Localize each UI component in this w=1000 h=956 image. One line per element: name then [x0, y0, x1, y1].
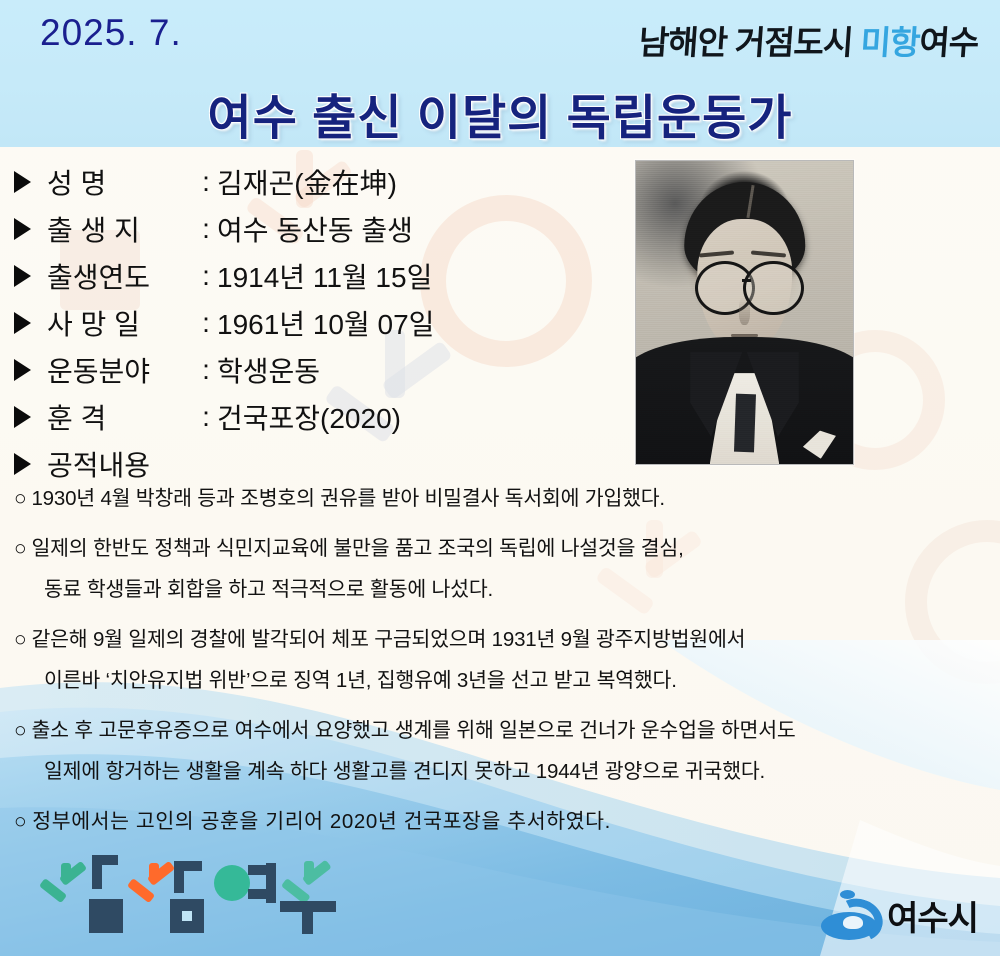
- info-row-field: 운동분야 : 학생운동: [14, 346, 634, 393]
- circle-bullet-icon: ○: [14, 801, 27, 842]
- paragraph: ○정부에서는 고인의 공훈을 기리어 2020년 건국포장을 추서하였다.: [14, 801, 989, 842]
- logo-glyph-su: [284, 861, 334, 895]
- paragraph-text: 같은해 9월 일제의 경찰에 발각되어 체포 구금되었으며 1931년 9월 광…: [31, 628, 745, 651]
- info-label: 성 명: [47, 162, 195, 202]
- circle-bullet-icon: ○: [14, 619, 26, 660]
- slogan-highlight: 미항: [859, 24, 920, 61]
- triangle-right-icon: [14, 171, 31, 193]
- info-value: 1961년 10월 07일: [217, 303, 434, 343]
- info-label: 훈 격: [47, 397, 195, 437]
- yeosu-emblem-icon: [821, 890, 877, 940]
- logo-shape-mieum-1: [92, 855, 118, 865]
- info-row-birthplace: 출 생 지 : 여수 동산동 출생: [14, 205, 634, 252]
- info-colon: :: [195, 401, 217, 433]
- info-label: 출생연도: [47, 256, 195, 296]
- slogan-post: 여수: [918, 24, 979, 61]
- paragraph-line: 이른바 ‘치안유지법 위반’으로 징역 1년, 집행유예 3년을 선고 받고 복…: [14, 660, 989, 701]
- info-value: 1914년 11월 15일: [217, 256, 432, 296]
- header-band: 2025. 7. 남해안 거점도시 미항여수 여수 출신 이달의 독립운동가: [0, 0, 1000, 147]
- paragraph-text: 출소 후 고문후유증으로 여수에서 요양했고 생계를 위해 일본으로 건너가 운…: [31, 719, 795, 742]
- paragraph-line: ○일제의 한반도 정책과 식민지교육에 불만을 품고 조국의 독립에 나설것을 …: [14, 528, 989, 569]
- paragraph-line: ○같은해 9월 일제의 경찰에 발각되어 체포 구금되었으며 1931년 9월 …: [14, 619, 989, 660]
- info-value: 건국포장(2020): [217, 397, 401, 437]
- logo-shape-u-bar: [280, 901, 336, 912]
- page-title: 여수 출신 이달의 독립운동가: [0, 78, 1000, 147]
- yeosu-city-logo: 여수시: [821, 890, 978, 940]
- paragraph-text: 일제의 한반도 정책과 식민지교육에 불만을 품고 조국의 독립에 나설것을 결…: [31, 537, 683, 560]
- info-label: 운동분야: [47, 350, 195, 390]
- portrait-photo: [635, 160, 854, 465]
- logo-glyph-seom2: [130, 863, 178, 895]
- info-row-award: 훈 격 : 건국포장(2020): [14, 393, 634, 440]
- info-label: 사 망 일: [47, 303, 195, 343]
- info-list: 성 명 : 김재곤(金在坤) 출 생 지 : 여수 동산동 출생 출생연도 : …: [14, 158, 634, 487]
- issue-date: 2025. 7.: [40, 12, 182, 54]
- triangle-right-icon: [14, 359, 31, 381]
- circle-bullet-icon: ○: [14, 478, 26, 519]
- info-row-birthdate: 출생연도 : 1914년 11월 15일: [14, 252, 634, 299]
- paragraph-text: 정부에서는 고인의 공훈을 기리어 2020년 건국포장을 추서하였다.: [32, 810, 611, 833]
- paragraph-line: 일제에 항거하는 생활을 계속 하다 생활고를 견디지 못하고 1944년 광양…: [14, 751, 989, 792]
- info-colon: :: [195, 354, 217, 386]
- logo-glyph-seom1: [42, 863, 90, 895]
- triangle-right-icon: [14, 406, 31, 428]
- info-row-name: 성 명 : 김재곤(金在坤): [14, 158, 634, 205]
- emblem-inner-highlight: [843, 916, 863, 929]
- paragraph: ○같은해 9월 일제의 경찰에 발각되어 체포 구금되었으며 1931년 9월 …: [14, 619, 989, 701]
- info-value: 여수 동산동 출생: [217, 209, 413, 249]
- info-label: 출 생 지: [47, 209, 195, 249]
- info-value: 학생운동: [217, 350, 320, 390]
- portrait-image: [636, 161, 853, 464]
- triangle-right-icon: [14, 453, 31, 475]
- logo-shape-ieung-circle: [214, 865, 250, 901]
- poster-root: 2025. 7. 남해안 거점도시 미항여수 여수 출신 이달의 독립운동가 성…: [0, 0, 1000, 956]
- info-value: 김재곤(金在坤): [217, 162, 397, 202]
- logo-shape-yeo-bar-top: [248, 865, 268, 875]
- logo-shape-giyeok: [174, 861, 202, 871]
- info-colon: :: [195, 307, 217, 339]
- paragraph: ○일제의 한반도 정책과 식민지교육에 불만을 품고 조국의 독립에 나설것을 …: [14, 528, 989, 610]
- info-colon: :: [195, 213, 217, 245]
- info-row-deathdate: 사 망 일 : 1961년 10월 07일: [14, 299, 634, 346]
- slogan-pre: 남해안 거점도시: [637, 24, 861, 61]
- paragraph-line: ○정부에서는 고인의 공훈을 기리어 2020년 건국포장을 추서하였다.: [14, 801, 989, 842]
- logo-shape-square-1: [89, 899, 123, 933]
- circle-bullet-icon: ○: [14, 710, 26, 751]
- seomseom-yeosu-logo: [42, 855, 322, 937]
- paragraph: ○1930년 4월 박창래 등과 조병호의 권유를 받아 비밀결사 독서회에 가…: [14, 478, 989, 519]
- portrait-film-grain: [636, 161, 853, 464]
- logo-shape-u-stem: [302, 912, 313, 934]
- paragraph-text: 1930년 4월 박창래 등과 조병호의 권유를 받아 비밀결사 독서회에 가입…: [31, 487, 664, 510]
- paragraph-line: ○출소 후 고문후유증으로 여수에서 요양했고 생계를 위해 일본으로 건너가 …: [14, 710, 989, 751]
- triangle-right-icon: [14, 265, 31, 287]
- city-slogan: 남해안 거점도시 미항여수: [637, 16, 980, 64]
- achievement-body: ○1930년 4월 박창래 등과 조병호의 권유를 받아 비밀결사 독서회에 가…: [14, 478, 989, 851]
- info-colon: :: [195, 166, 217, 198]
- city-logo-text: 여수시: [887, 891, 978, 940]
- circle-bullet-icon: ○: [14, 528, 26, 569]
- logo-shape-giyeok-stem: [174, 871, 184, 893]
- paragraph-line: 동료 학생들과 회합을 하고 적극적으로 활동에 나섰다.: [14, 569, 989, 610]
- logo-shape-square-2-hole: [182, 911, 192, 921]
- paragraph-line: ○1930년 4월 박창래 등과 조병호의 권유를 받아 비밀결사 독서회에 가…: [14, 478, 989, 519]
- info-colon: :: [195, 260, 217, 292]
- triangle-right-icon: [14, 312, 31, 334]
- logo-shape-mieum-2: [92, 865, 102, 889]
- logo-shape-yeo-bar-bottom: [248, 889, 268, 899]
- triangle-right-icon: [14, 218, 31, 240]
- paragraph: ○출소 후 고문후유증으로 여수에서 요양했고 생계를 위해 일본으로 건너가 …: [14, 710, 989, 792]
